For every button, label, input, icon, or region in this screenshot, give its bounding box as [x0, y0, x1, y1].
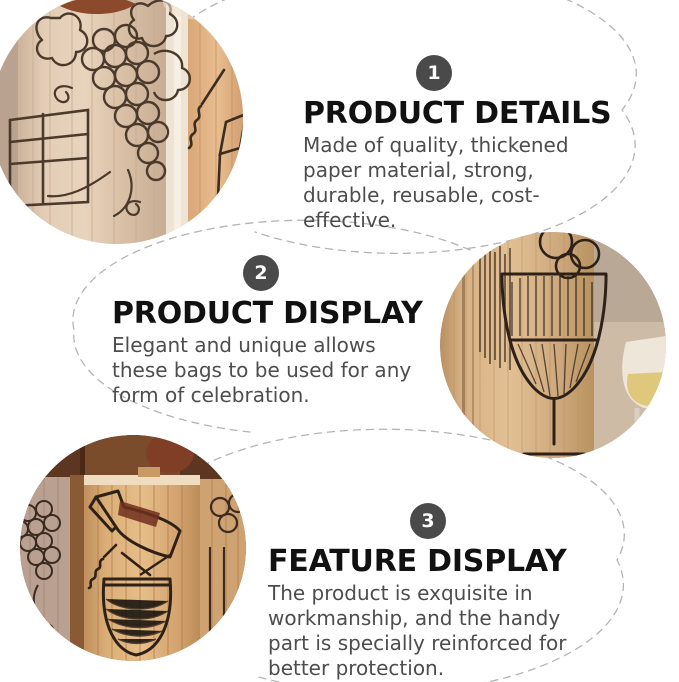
product-photo-pouring-wine — [20, 435, 246, 661]
section-3-badge: 3 — [410, 503, 446, 539]
product-photo-wine-glass — [440, 232, 666, 458]
section-1-badge: 1 — [416, 55, 452, 91]
product-photo-grapes — [0, 0, 247, 244]
section-3: 3 FEATURE DISPLAY The product is exquisi… — [268, 503, 598, 681]
section-2: 2 PRODUCT DISPLAY Elegant and unique all… — [112, 255, 432, 408]
section-2-heading: PRODUCT DISPLAY — [112, 299, 432, 330]
section-1-heading: PRODUCT DETAILS — [303, 99, 613, 130]
section-2-badge: 2 — [243, 255, 279, 291]
product-infographic: 1 PRODUCT DETAILS Made of quality, thick… — [0, 0, 679, 682]
section-1-body: Made of quality, thickened paper materia… — [303, 133, 613, 234]
section-1: 1 PRODUCT DETAILS Made of quality, thick… — [303, 55, 613, 233]
section-3-body: The product is exquisite in workmanship,… — [268, 581, 598, 682]
section-3-heading: FEATURE DISPLAY — [268, 547, 598, 578]
section-2-body: Elegant and unique allows these bags to … — [112, 333, 432, 409]
